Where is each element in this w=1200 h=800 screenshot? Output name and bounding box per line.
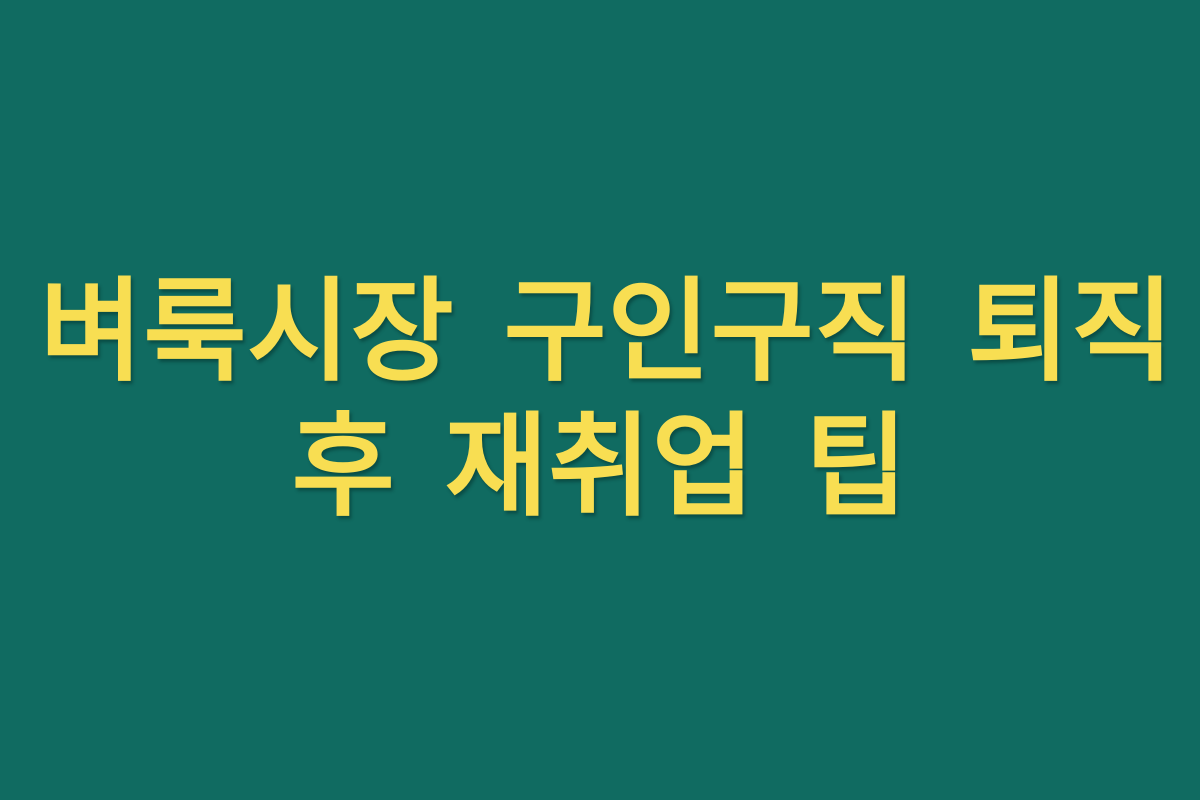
title-line-1: 벼룩시장 구인구직 퇴직 [40,265,1160,400]
page-title: 벼룩시장 구인구직 퇴직 후 재취업 팁 [0,265,1200,535]
title-banner: 벼룩시장 구인구직 퇴직 후 재취업 팁 [0,0,1200,800]
title-line-2: 후 재취업 팁 [40,400,1160,535]
